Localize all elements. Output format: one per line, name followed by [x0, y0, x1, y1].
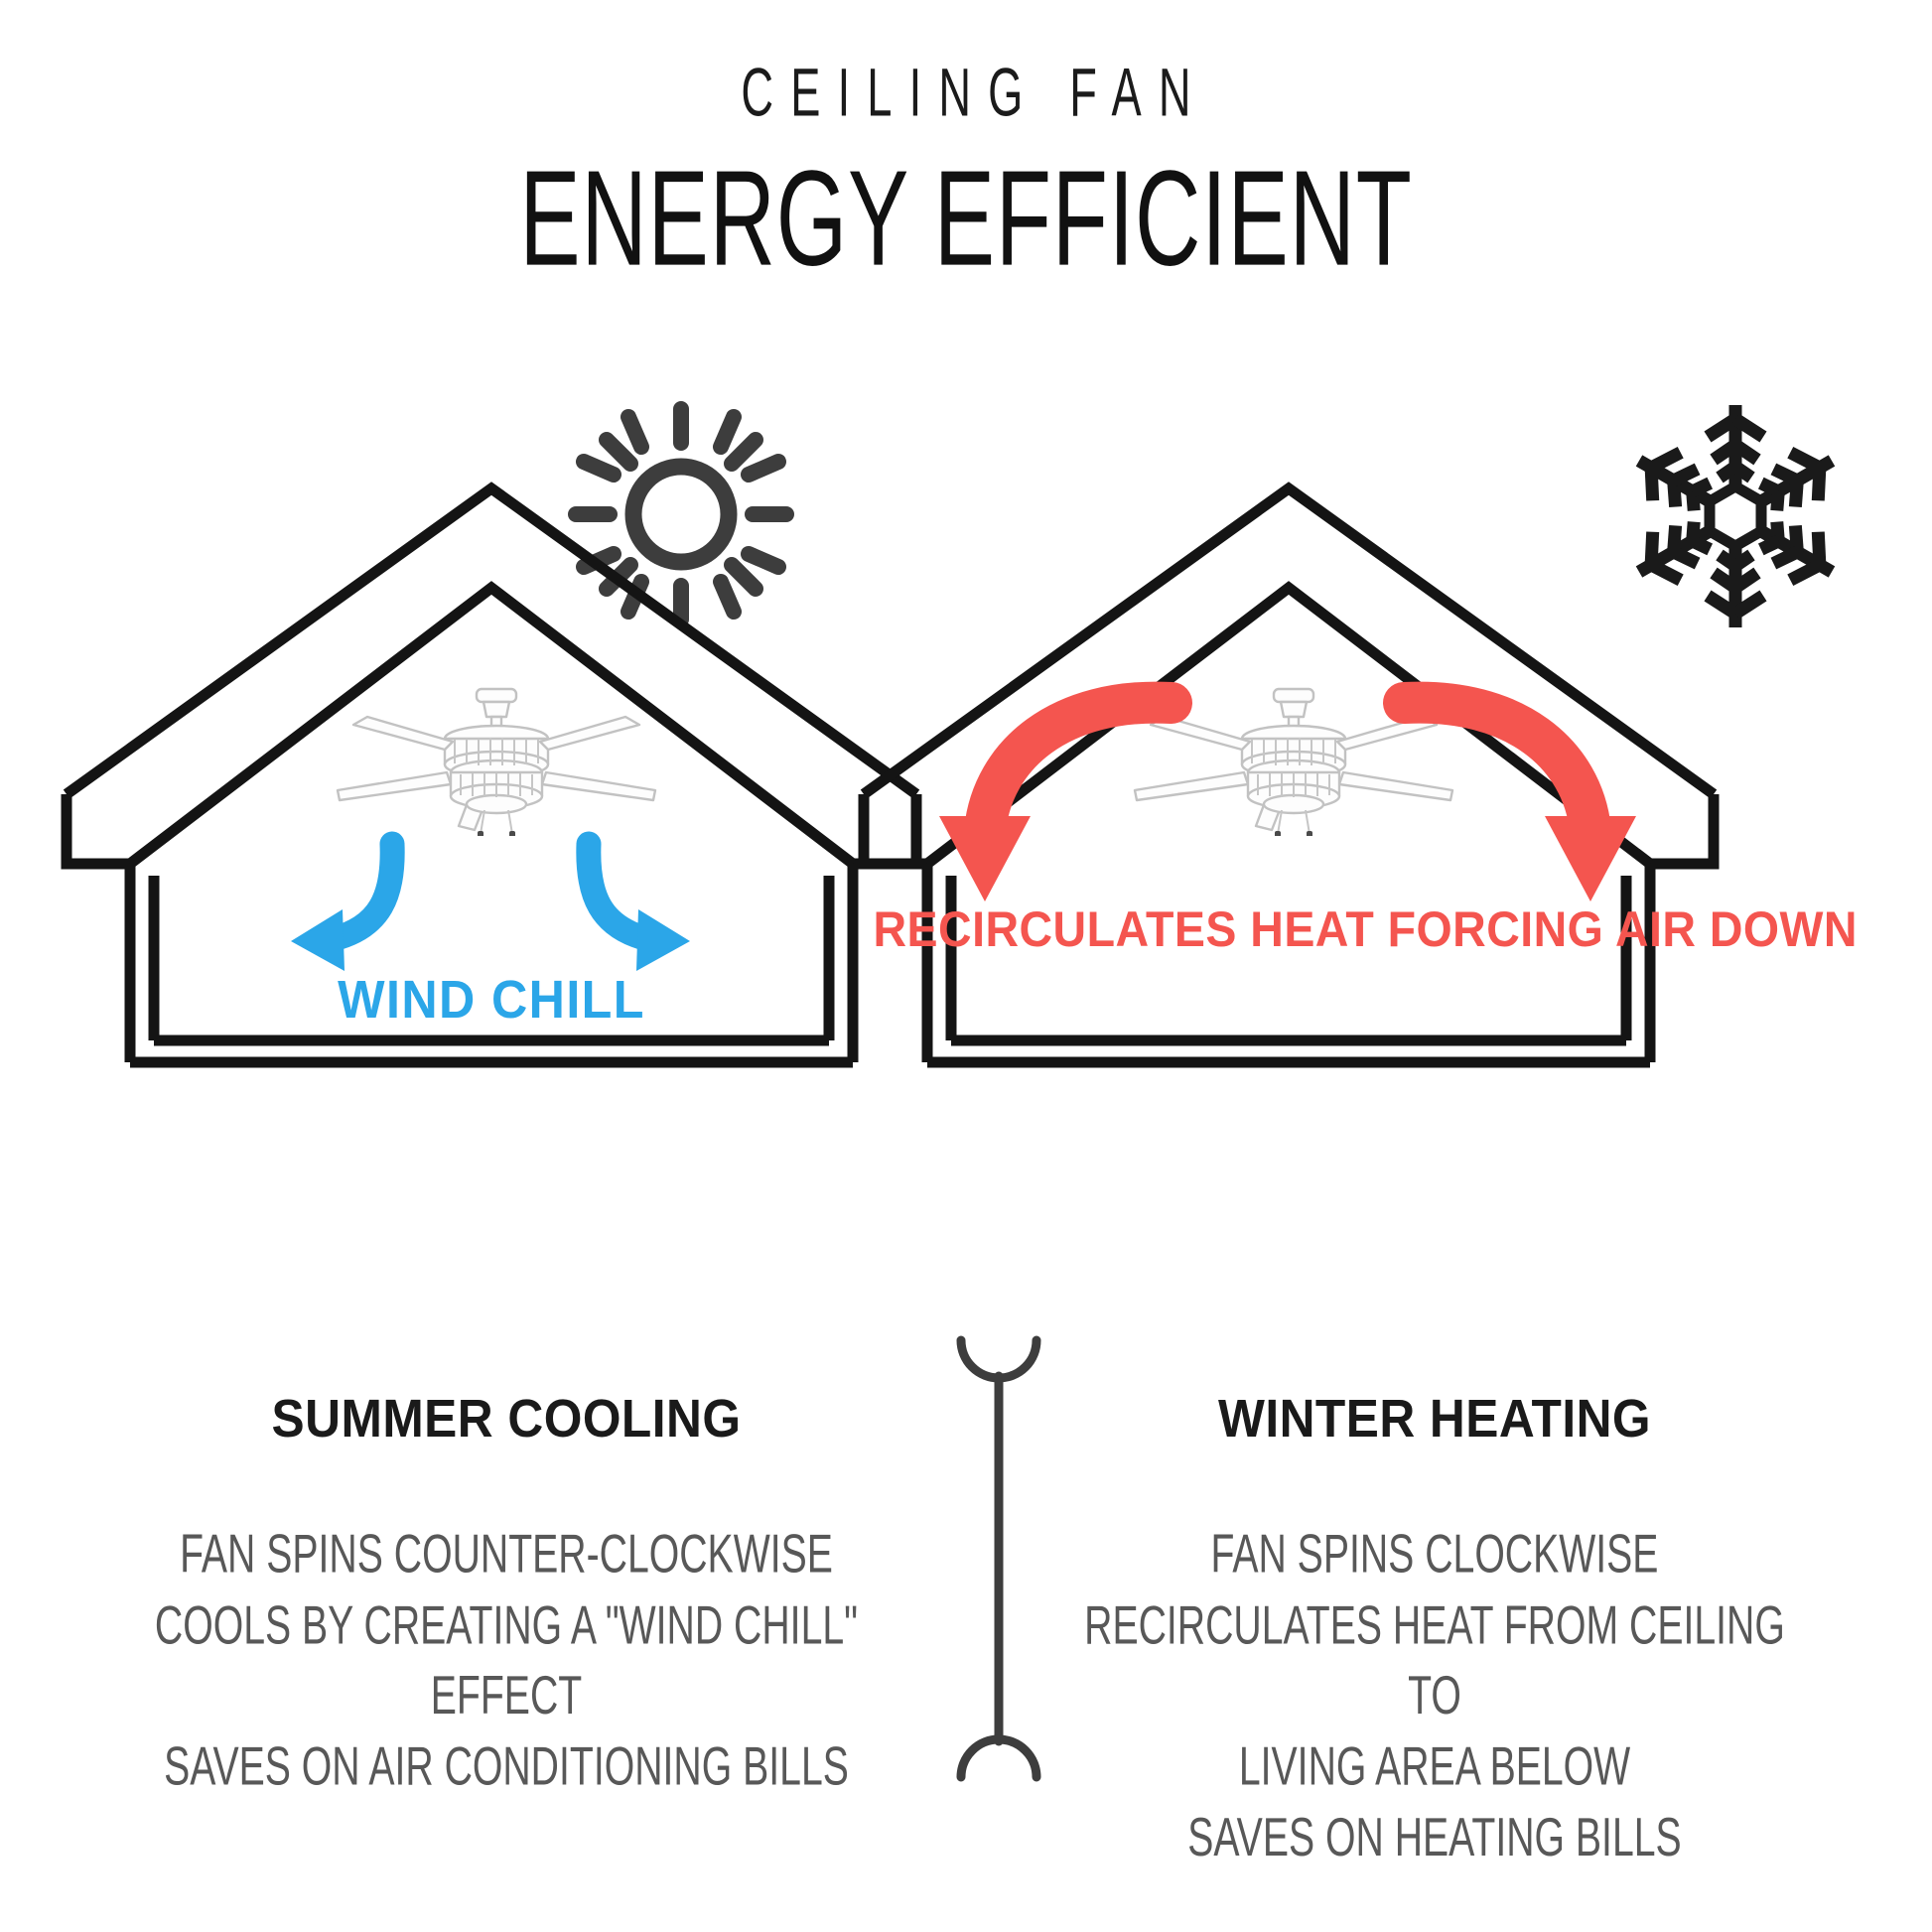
infographic-canvas: CEILING FAN ENERGY EFFICIENT	[0, 0, 1932, 1932]
curved-arrow-left-icon	[939, 703, 1172, 901]
summer-body-text: FAN SPINS COUNTER-CLOCKWISE COOLS BY CRE…	[149, 1520, 864, 1803]
winter-body-text: FAN SPINS CLOCKWISE RECIRCULATES HEAT FR…	[1077, 1520, 1792, 1874]
recirculates-heat-label: RECIRCULATES HEAT FORCING AIR DOWN	[874, 899, 1705, 960]
wind-chill-label: WIND CHILL	[76, 969, 907, 1031]
winter-heading: WINTER HEATING	[1024, 1390, 1846, 1449]
curved-arrow-left-icon	[291, 844, 392, 971]
summer-heading: SUMMER COOLING	[95, 1390, 917, 1449]
title-main: ENERGY EFFICIENT	[174, 151, 1758, 287]
summer-caption-column: SUMMER COOLING FAN SPINS COUNTER-CLOCKWI…	[60, 1390, 953, 1773]
curved-arrow-right-icon	[1404, 703, 1636, 901]
winter-caption-column: WINTER HEATING FAN SPINS CLOCKWISE RECIR…	[988, 1390, 1881, 1837]
summer-cooling-panel: WIND CHILL	[45, 467, 938, 1082]
title-kicker: CEILING FAN	[212, 60, 1720, 127]
airflow-arrows-warm	[842, 467, 1735, 1082]
page-title: CEILING FAN ENERGY EFFICIENT	[0, 60, 1932, 262]
winter-heating-panel: RECIRCULATES HEAT FORCING AIR DOWN	[842, 467, 1735, 1082]
curved-arrow-right-icon	[589, 844, 690, 971]
